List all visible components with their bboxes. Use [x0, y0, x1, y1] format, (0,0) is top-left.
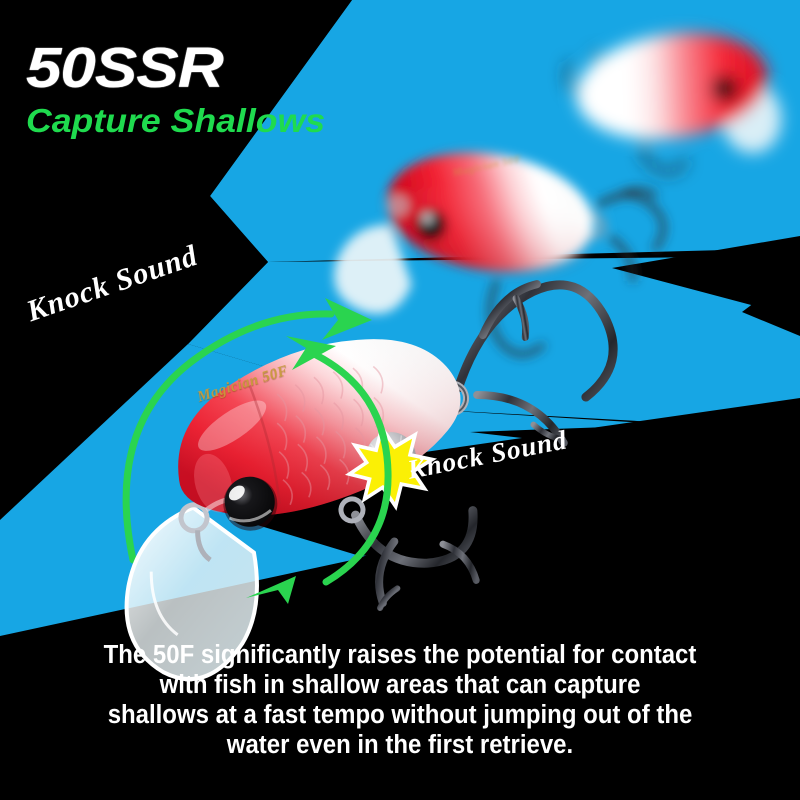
caption-line-3: shallows at a fast tempo without jumping… — [37, 700, 763, 730]
product-tagline: Capture Shallows — [26, 104, 325, 137]
caption-line-2: with fish in shallow areas that can capt… — [37, 670, 763, 700]
caption-line-1: The 50F significantly raises the potenti… — [37, 640, 763, 670]
product-banner: 50SSR Capture Shallows Knock Sound Knock… — [0, 0, 800, 800]
page-title: 50SSR — [26, 40, 336, 97]
caption-line-4: water even in the first retrieve. — [37, 730, 763, 760]
caption-block: The 50F significantly raises the potenti… — [24, 640, 776, 760]
title-block: 50SSR Capture Shallows — [26, 40, 303, 137]
